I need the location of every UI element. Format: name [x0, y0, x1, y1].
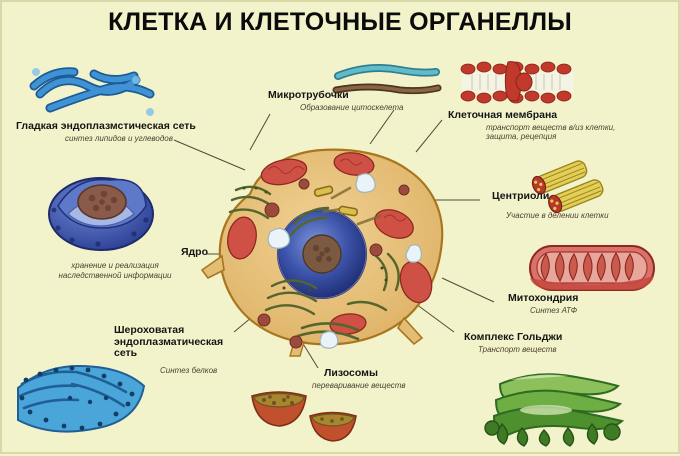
- mitochondrion-icon: [524, 236, 660, 298]
- smooth-er-icon: [24, 50, 176, 122]
- lysosomes-icon: [246, 384, 372, 442]
- label-rough-er-function: Синтез белков: [160, 365, 270, 376]
- label-nucleus-function: хранение и реализация наследственной инф…: [30, 260, 200, 280]
- label-centrioles: Центриоли Участие в делении клетки: [492, 191, 672, 220]
- membrane-label-function: транспорт веществ в/из клетки, защита, р…: [486, 123, 658, 142]
- animal-cell-illustration: [198, 128, 460, 360]
- golgi-illustration: [486, 366, 634, 448]
- label-smooth-er: Гладкая эндоплазмстическая сеть синтез л…: [16, 121, 222, 143]
- label-lysosomes: Лизосомы переваривание веществ: [312, 368, 472, 390]
- rough-er-illustration: [10, 354, 150, 438]
- label-nucleus: Ядро: [142, 247, 208, 259]
- nucleus-label-function: хранение и реализация наследственной инф…: [30, 261, 200, 280]
- label-microtubules: Микротрубочки Образование цитоскелета: [268, 90, 448, 112]
- smooth-er-illustration: [24, 50, 176, 122]
- mitochondria-label-name: Митохондрия: [508, 293, 678, 305]
- mitochondrion-illustration: [524, 236, 660, 298]
- rough-er-label-function: Синтез белков: [160, 366, 270, 376]
- microtubules-label-function: Образование цитоскелета: [300, 103, 448, 113]
- rough-er-label-name: Шероховатая эндоплазматическая сеть: [114, 325, 234, 360]
- lysosomes-label-name: Лизосомы: [324, 368, 472, 380]
- lysosomes-illustration: [246, 384, 372, 442]
- smooth-er-label-name: Гладкая эндоплазмстическая сеть: [16, 121, 222, 133]
- nucleus-label-name: Ядро: [142, 247, 208, 259]
- nucleus-illustration: [38, 166, 164, 254]
- microtubules-label-name: Микротрубочки: [268, 90, 448, 102]
- golgi-label-name: Комплекс Гольджи: [464, 332, 644, 344]
- label-rough-er: Шероховатая эндоплазматическая сеть: [114, 325, 234, 360]
- rough-er-icon: [10, 354, 150, 438]
- cell-membrane-illustration: [458, 56, 578, 108]
- label-mitochondria: Митохондрия Синтез АТФ: [508, 293, 678, 315]
- golgi-label-function: Транспорт веществ: [478, 345, 644, 355]
- label-cell-membrane: Клеточная мембрана транспорт веществ в/и…: [448, 110, 658, 142]
- cell-membrane-icon: [458, 56, 578, 108]
- centrioles-label-name: Центриоли: [492, 191, 672, 203]
- smooth-er-label-function: синтез липидов и углеводов: [16, 134, 222, 144]
- mitochondria-label-function: Синтез АТФ: [530, 306, 678, 316]
- centrioles-label-function: Участие в делении клетки: [506, 211, 672, 221]
- nucleus-icon: [38, 166, 164, 254]
- animal-cell-icon: [198, 128, 460, 360]
- golgi-icon: [486, 366, 634, 448]
- membrane-label-name: Клеточная мембрана: [448, 110, 658, 122]
- label-golgi: Комплекс Гольджи Транспорт веществ: [464, 332, 644, 354]
- poster-canvas: КЛЕТКА И КЛЕТОЧНЫЕ ОРГАНЕЛЛЫ: [0, 0, 680, 454]
- lysosomes-label-function: переваривание веществ: [312, 381, 472, 391]
